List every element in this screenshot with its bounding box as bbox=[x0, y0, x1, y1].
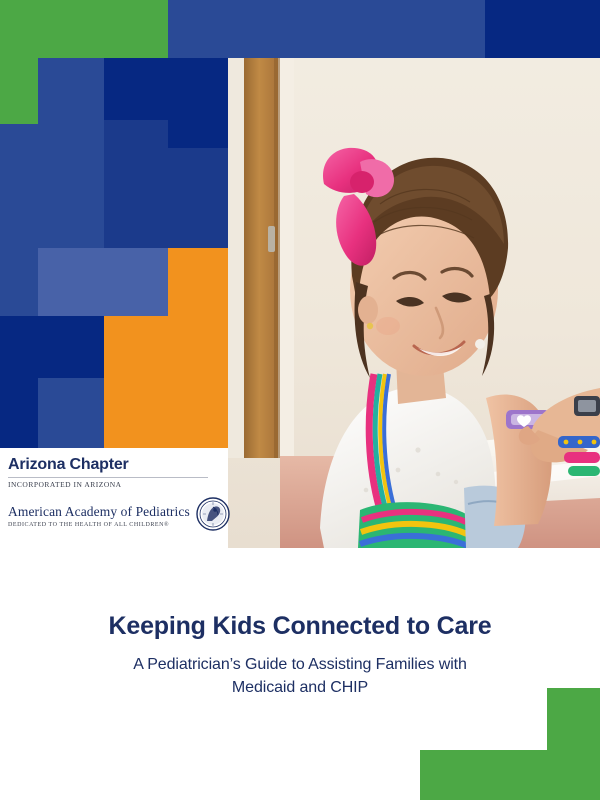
logo-divider bbox=[8, 477, 208, 478]
aap-arizona-logo: Arizona Chapter INCORPORATED IN ARIZONA … bbox=[8, 456, 220, 536]
light-blue-band bbox=[38, 248, 168, 316]
title-block: Keeping Kids Connected to Care A Pediatr… bbox=[60, 612, 540, 699]
deep-blue-right bbox=[168, 148, 228, 248]
navy-upper-center bbox=[104, 58, 168, 120]
document-subtitle-line-2: Medicaid and CHIP bbox=[232, 679, 368, 696]
blue-top-right-mid bbox=[168, 0, 485, 58]
green-step-lower bbox=[420, 750, 600, 800]
blue-mid-upper bbox=[38, 58, 104, 248]
blue-left-column bbox=[0, 124, 38, 316]
document-subtitle-line-1: A Pediatrician’s Guide to Assisting Fami… bbox=[133, 656, 467, 673]
navy-lower-left bbox=[0, 378, 38, 448]
logo-tagline: DEDICATED TO THE HEALTH OF ALL CHILDREN® bbox=[8, 522, 190, 528]
cover-page: Arizona Chapter INCORPORATED IN ARIZONA … bbox=[0, 0, 600, 800]
navy-top-right bbox=[485, 0, 600, 58]
orange-lower-block bbox=[104, 316, 228, 448]
orange-right-upper bbox=[168, 248, 228, 316]
navy-upper-right bbox=[168, 58, 228, 148]
logo-organization-name: American Academy of Pediatrics bbox=[8, 504, 190, 520]
logo-chapter-title: Arizona Chapter bbox=[8, 456, 220, 474]
document-subtitle: A Pediatrician’s Guide to Assisting Fami… bbox=[60, 653, 540, 699]
document-title: Keeping Kids Connected to Care bbox=[60, 612, 540, 641]
blue-lower-square bbox=[38, 378, 104, 448]
aap-seal-icon bbox=[196, 497, 230, 536]
logo-band: Arizona Chapter INCORPORATED IN ARIZONA … bbox=[0, 448, 228, 548]
deep-blue-center bbox=[104, 120, 168, 248]
logo-incorporated-text: INCORPORATED IN ARIZONA bbox=[8, 480, 220, 489]
cover-photograph bbox=[228, 58, 600, 548]
